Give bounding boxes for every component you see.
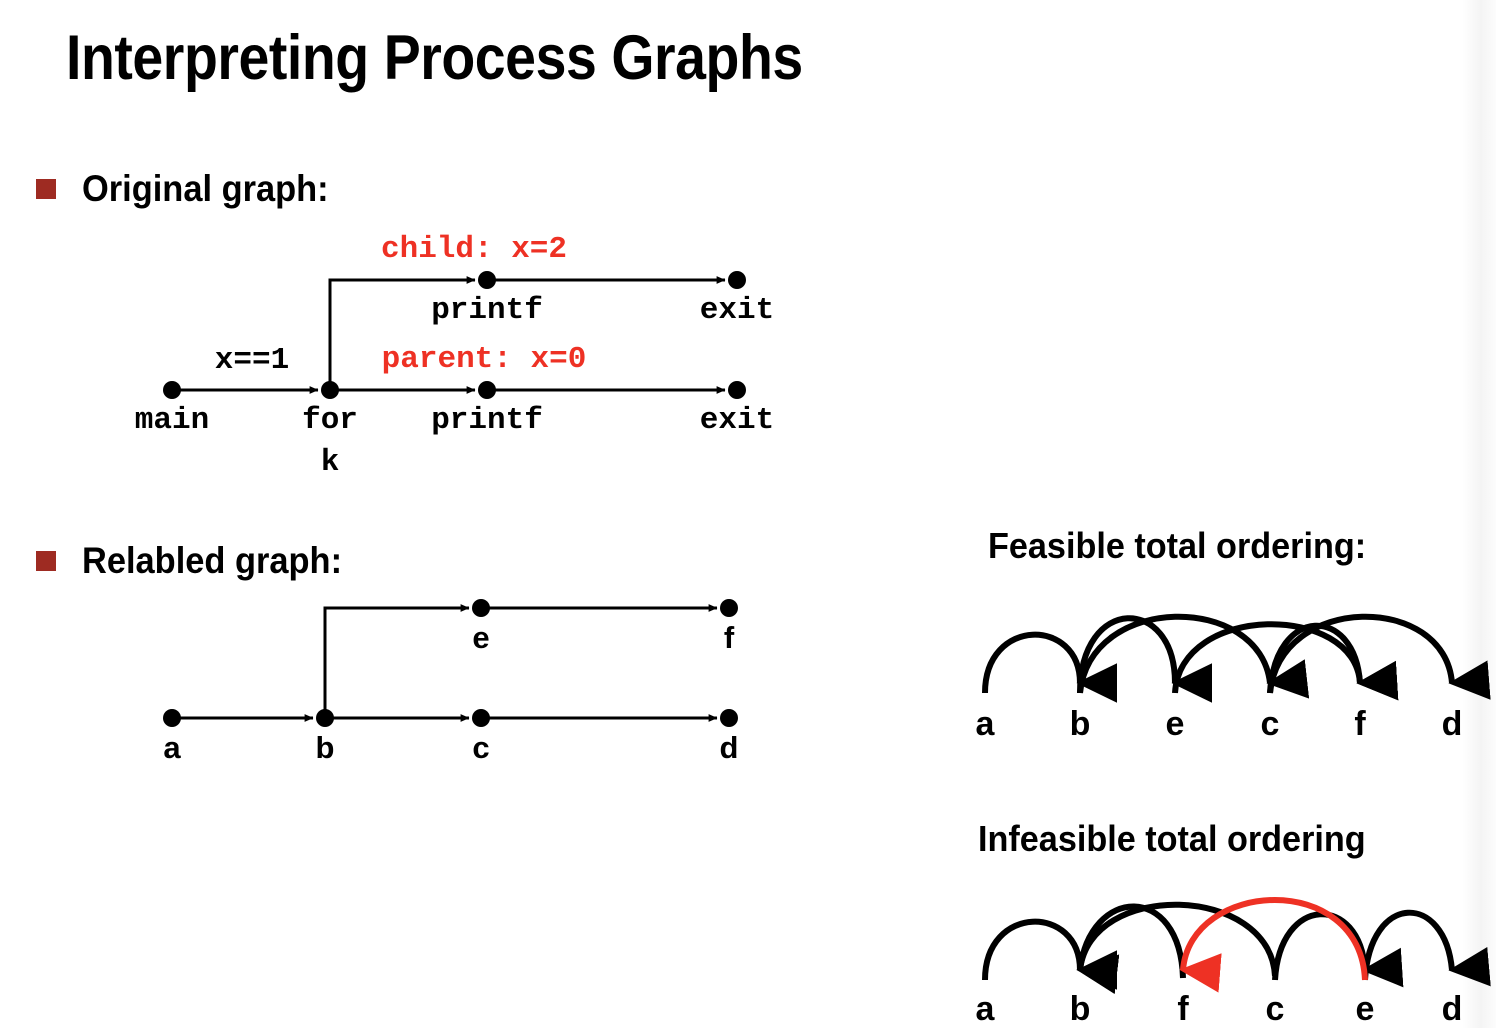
node-label-e: e (472, 620, 489, 655)
node-printf-parent (478, 381, 496, 399)
order-letter-5: f (1354, 705, 1366, 743)
bullet-label-relabeled: Relabled graph: (82, 540, 342, 582)
node-label-exit-child: exit (700, 293, 774, 328)
page-title: Interpreting Process Graphs (66, 22, 803, 94)
order-letter-1: a (976, 705, 996, 743)
node-printf-child (478, 271, 496, 289)
bullet-relabeled-graph: Relabled graph: (36, 540, 362, 582)
node-label-c: c (472, 730, 489, 765)
node-b (316, 709, 334, 727)
arc-c-to-e (1275, 914, 1365, 980)
order-letter-3: f (1177, 990, 1189, 1028)
arc-e-to-d (1365, 913, 1452, 980)
square-bullet-icon (36, 551, 56, 571)
order-letter-6: d (1442, 990, 1463, 1028)
relabeled-process-graph: a b c d e f (0, 580, 880, 770)
arc-a-to-b (985, 922, 1080, 980)
node-exit-child (728, 271, 746, 289)
heading-feasible-total-ordering: Feasible total ordering: (988, 525, 1366, 567)
order-letter-1: a (976, 990, 996, 1028)
edge-label-x-equals-1: x==1 (215, 343, 289, 378)
order-letter-4: c (1261, 705, 1280, 743)
node-c (472, 709, 490, 727)
node-label-b: b (316, 730, 335, 765)
node-label-d: d (720, 730, 739, 765)
node-a (163, 709, 181, 727)
node-f (720, 599, 738, 617)
heading-infeasible-total-ordering: Infeasible total ordering (978, 818, 1366, 860)
edge-label-child-x2: child: x=2 (381, 232, 567, 267)
bullet-label-original: Original graph: (82, 168, 329, 210)
node-sublabel-k: k (321, 445, 340, 480)
node-for (321, 381, 339, 399)
order-letter-6: d (1442, 705, 1463, 743)
node-label-printf-child: printf (431, 293, 543, 328)
node-exit-parent (728, 381, 746, 399)
order-letter-4: c (1266, 990, 1285, 1028)
node-label-main: main (135, 403, 209, 438)
node-main (163, 381, 181, 399)
order-letter-3: e (1166, 705, 1185, 743)
original-process-graph: main for k printf exit printf exit x==1 … (0, 225, 880, 490)
node-label-a: a (163, 730, 181, 765)
node-e (472, 599, 490, 617)
bullet-original-graph: Original graph: (36, 168, 347, 210)
edge-b-to-e (325, 608, 469, 718)
node-label-for: for (302, 403, 358, 438)
node-label-f: f (724, 620, 735, 655)
arc-f-to-b (1080, 906, 1183, 978)
order-letter-2: b (1070, 990, 1091, 1028)
arc-a-to-b (985, 635, 1080, 693)
feasible-total-ordering-diagram: a b e c f d (940, 575, 1496, 745)
node-label-printf-parent: printf (431, 403, 543, 438)
node-label-exit-parent: exit (700, 403, 774, 438)
node-d (720, 709, 738, 727)
square-bullet-icon (36, 179, 56, 199)
order-letter-2: b (1070, 705, 1091, 743)
edge-label-parent-x0: parent: x=0 (382, 342, 587, 377)
order-letter-5: e (1356, 990, 1375, 1028)
infeasible-total-ordering-diagram: a b f c e d (940, 868, 1496, 1028)
